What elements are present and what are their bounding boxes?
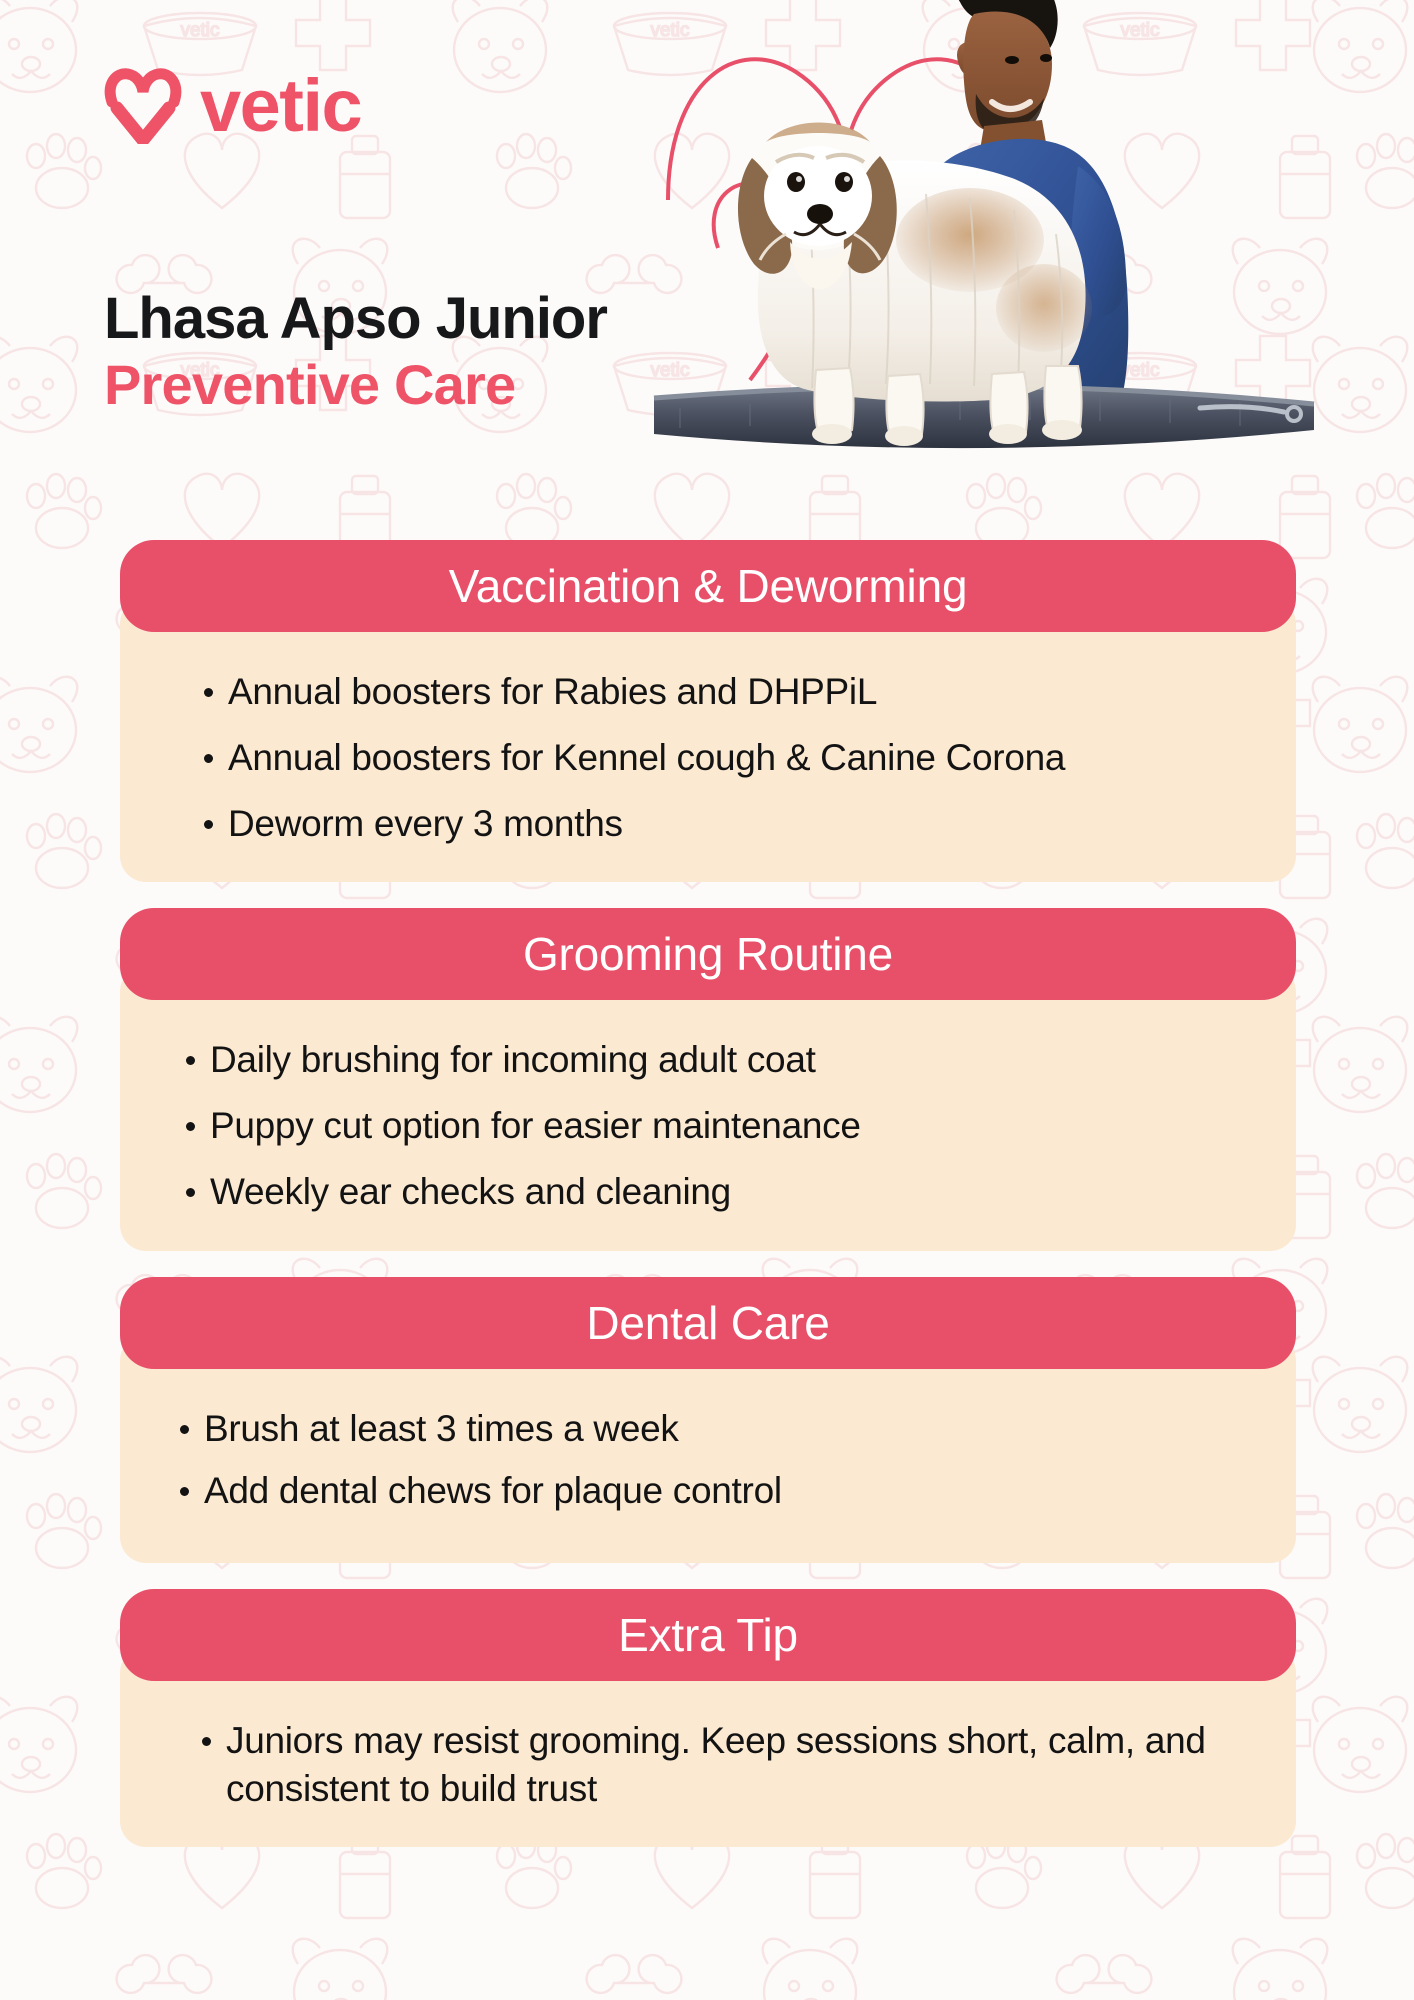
- section-card-grooming: Grooming Routine Daily brushing for inco…: [120, 908, 1296, 1250]
- title-line-breed: Lhasa Apso Junior: [104, 288, 607, 349]
- vetic-logo[interactable]: vetic: [104, 68, 361, 144]
- page-title: Lhasa Apso Junior Preventive Care: [104, 288, 607, 415]
- list-item: Daily brushing for incoming adult coat: [174, 1036, 1250, 1084]
- outline-hearts-icon: [640, 10, 1060, 430]
- list-item: Deworm every 3 months: [192, 800, 1250, 848]
- section-body-vaccination: Annual boosters for Rabies and DHPPiL An…: [120, 598, 1296, 882]
- section-title-dental: Dental Care: [120, 1277, 1296, 1369]
- list-item: Annual boosters for Kennel cough & Canin…: [192, 734, 1250, 782]
- heart-v-logo-icon: [104, 68, 182, 144]
- infographic-page: vetic Lhasa Apso Junior Preventive Care …: [0, 0, 1414, 2000]
- section-body-dental: Brush at least 3 times a week Add dental…: [120, 1335, 1296, 1563]
- logo-wordmark: vetic: [200, 69, 361, 143]
- list-item: Juniors may resist grooming. Keep sessio…: [190, 1717, 1250, 1813]
- section-title-extra-tip: Extra Tip: [120, 1589, 1296, 1681]
- section-body-grooming: Daily brushing for incoming adult coat P…: [120, 966, 1296, 1250]
- title-line-topic: Preventive Care: [104, 355, 607, 414]
- list-item: Annual boosters for Rabies and DHPPiL: [192, 668, 1250, 716]
- hero-photo-groomer-and-dog: [640, 0, 1340, 550]
- section-card-dental: Dental Care Brush at least 3 times a wee…: [120, 1277, 1296, 1563]
- list-item: Brush at least 3 times a week: [168, 1405, 1250, 1453]
- section-card-list: Vaccination & Deworming Annual boosters …: [0, 540, 1414, 1847]
- list-item: Weekly ear checks and cleaning: [174, 1168, 1250, 1216]
- section-title-vaccination: Vaccination & Deworming: [120, 540, 1296, 632]
- section-card-extra-tip: Extra Tip Juniors may resist grooming. K…: [120, 1589, 1296, 1847]
- section-title-grooming: Grooming Routine: [120, 908, 1296, 1000]
- list-item: Add dental chews for plaque control: [168, 1467, 1250, 1515]
- list-item: Puppy cut option for easier maintenance: [174, 1102, 1250, 1150]
- section-card-vaccination: Vaccination & Deworming Annual boosters …: [120, 540, 1296, 882]
